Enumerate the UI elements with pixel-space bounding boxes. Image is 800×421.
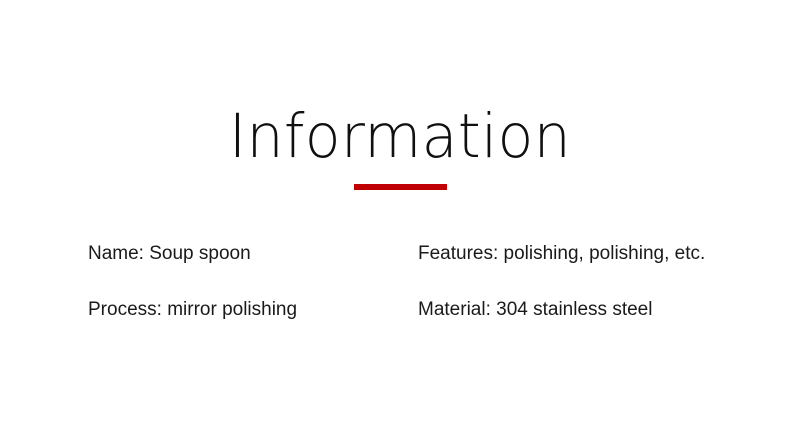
- title-block: Information: [0, 104, 800, 190]
- title-accent-bar: [354, 184, 447, 190]
- information-slide: Information Name: Soup spoon Features: p…: [0, 0, 800, 421]
- specification-list: Name: Soup spoon Features: polishing, po…: [88, 243, 728, 355]
- spec-item-name: Name: Soup spoon: [88, 243, 418, 265]
- spec-item-material: Material: 304 stainless steel: [418, 299, 728, 321]
- page-title: Information: [16, 104, 784, 170]
- spec-item-process: Process: mirror polishing: [88, 299, 418, 321]
- spec-item-features: Features: polishing, polishing, etc.: [418, 243, 728, 265]
- accent-bar-container: [0, 184, 800, 190]
